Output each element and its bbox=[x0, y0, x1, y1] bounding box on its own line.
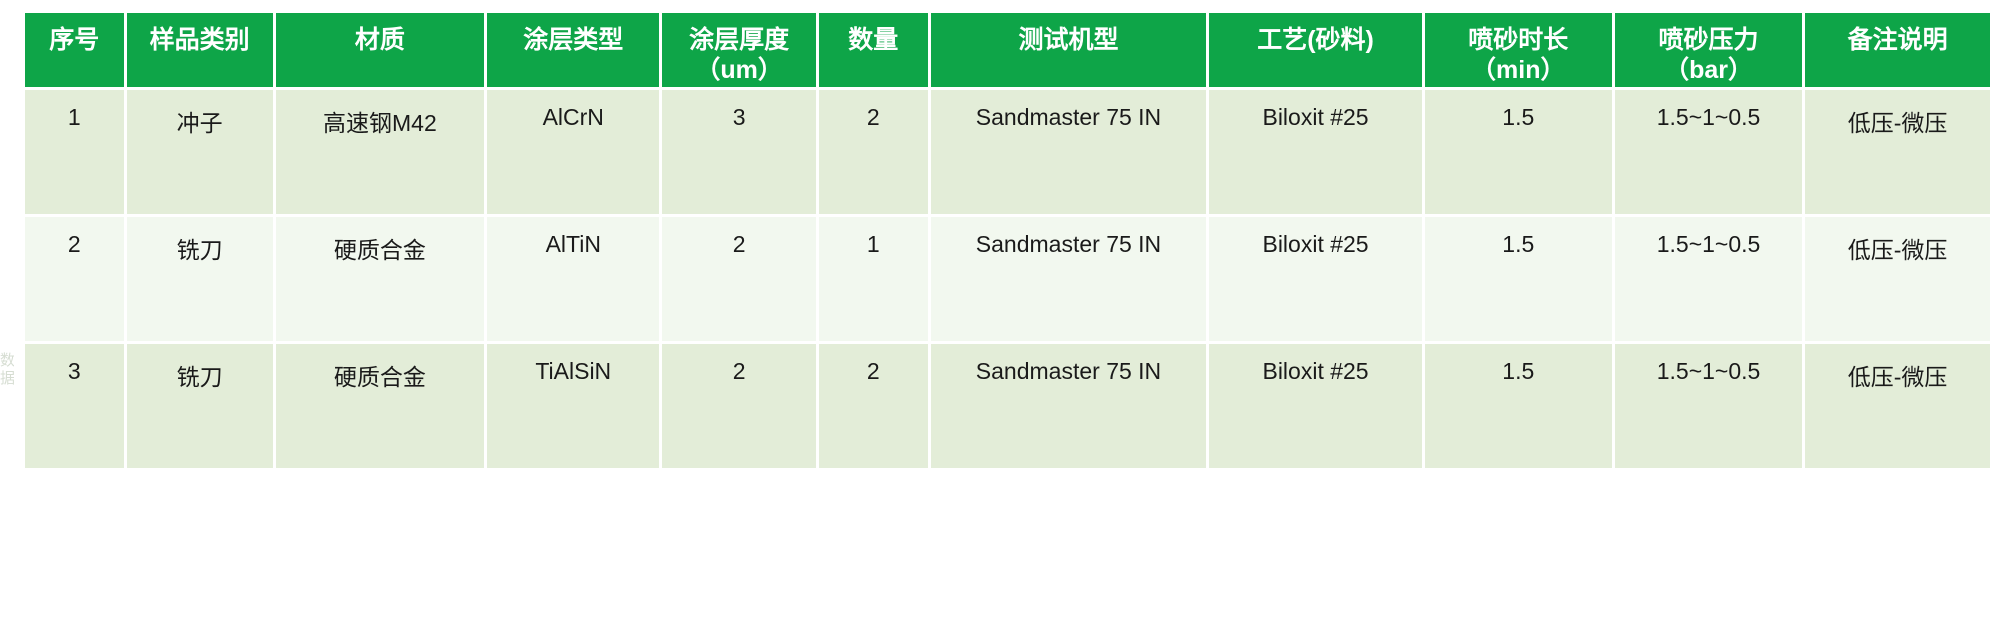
column-header-blast-pressure[interactable]: 喷砂压力 （bar） bbox=[1615, 13, 1802, 87]
cell-process: Biloxit #25 bbox=[1209, 90, 1421, 214]
cell-coating-thickness: 2 bbox=[662, 217, 816, 341]
page-edge-artifact: 数 据 bbox=[0, 352, 14, 392]
table-row[interactable]: 1 冲子 高速钢M42 AlCrN 3 2 Sandmaster 75 IN B… bbox=[25, 90, 1990, 214]
cell-index: 1 bbox=[25, 90, 124, 214]
cell-index: 2 bbox=[25, 217, 124, 341]
column-header-quantity[interactable]: 数量 bbox=[819, 13, 928, 87]
column-header-sample-type[interactable]: 样品类别 bbox=[127, 13, 273, 87]
cell-quantity: 2 bbox=[819, 90, 928, 214]
cell-process: Biloxit #25 bbox=[1209, 344, 1421, 468]
table-row[interactable]: 3 铣刀 硬质合金 TiAlSiN 2 2 Sandmaster 75 IN B… bbox=[25, 344, 1990, 468]
cell-blast-time: 1.5 bbox=[1425, 344, 1612, 468]
cell-index: 3 bbox=[25, 344, 124, 468]
column-header-material[interactable]: 材质 bbox=[276, 13, 484, 87]
table-header-row: 序号 样品类别 材质 涂层类型 涂层厚度 （um） 数量 测试机型 工艺(砂料)… bbox=[25, 13, 1990, 87]
cell-blast-time: 1.5 bbox=[1425, 90, 1612, 214]
cell-coating-type: TiAlSiN bbox=[487, 344, 659, 468]
cell-remark: 低压-微压 bbox=[1805, 344, 1990, 468]
cell-process: Biloxit #25 bbox=[1209, 217, 1421, 341]
cell-blast-pressure: 1.5~1~0.5 bbox=[1615, 90, 1802, 214]
cell-material: 硬质合金 bbox=[276, 344, 484, 468]
document-canvas: 数 据 序号 样品类别 材质 涂层类型 涂层厚度 （um） 数量 测试机型 工艺… bbox=[0, 0, 2015, 637]
cell-test-machine: Sandmaster 75 IN bbox=[931, 344, 1207, 468]
column-header-index[interactable]: 序号 bbox=[25, 13, 124, 87]
cell-coating-type: AlTiN bbox=[487, 217, 659, 341]
cell-coating-thickness: 2 bbox=[662, 344, 816, 468]
column-header-coating-thickness[interactable]: 涂层厚度 （um） bbox=[662, 13, 816, 87]
column-header-coating-type[interactable]: 涂层类型 bbox=[487, 13, 659, 87]
cell-material: 高速钢M42 bbox=[276, 90, 484, 214]
cell-remark: 低压-微压 bbox=[1805, 217, 1990, 341]
cell-quantity: 2 bbox=[819, 344, 928, 468]
column-header-remark[interactable]: 备注说明 bbox=[1805, 13, 1990, 87]
column-header-blast-time[interactable]: 喷砂时长 （min） bbox=[1425, 13, 1612, 87]
column-header-test-machine[interactable]: 测试机型 bbox=[931, 13, 1207, 87]
cell-remark: 低压-微压 bbox=[1805, 90, 1990, 214]
cell-coating-thickness: 3 bbox=[662, 90, 816, 214]
table-row[interactable]: 2 铣刀 硬质合金 AlTiN 2 1 Sandmaster 75 IN Bil… bbox=[25, 217, 1990, 341]
table-header: 序号 样品类别 材质 涂层类型 涂层厚度 （um） 数量 测试机型 工艺(砂料)… bbox=[25, 13, 1990, 87]
sample-parameters-table: 序号 样品类别 材质 涂层类型 涂层厚度 （um） 数量 测试机型 工艺(砂料)… bbox=[22, 10, 1993, 471]
cell-material: 硬质合金 bbox=[276, 217, 484, 341]
cell-sample-type: 铣刀 bbox=[127, 217, 273, 341]
cell-test-machine: Sandmaster 75 IN bbox=[931, 217, 1207, 341]
cell-quantity: 1 bbox=[819, 217, 928, 341]
cell-coating-type: AlCrN bbox=[487, 90, 659, 214]
cell-blast-time: 1.5 bbox=[1425, 217, 1612, 341]
cell-blast-pressure: 1.5~1~0.5 bbox=[1615, 217, 1802, 341]
table-body: 1 冲子 高速钢M42 AlCrN 3 2 Sandmaster 75 IN B… bbox=[25, 90, 1990, 468]
cell-blast-pressure: 1.5~1~0.5 bbox=[1615, 344, 1802, 468]
cell-test-machine: Sandmaster 75 IN bbox=[931, 90, 1207, 214]
column-header-process[interactable]: 工艺(砂料) bbox=[1209, 13, 1421, 87]
cell-sample-type: 铣刀 bbox=[127, 344, 273, 468]
cell-sample-type: 冲子 bbox=[127, 90, 273, 214]
